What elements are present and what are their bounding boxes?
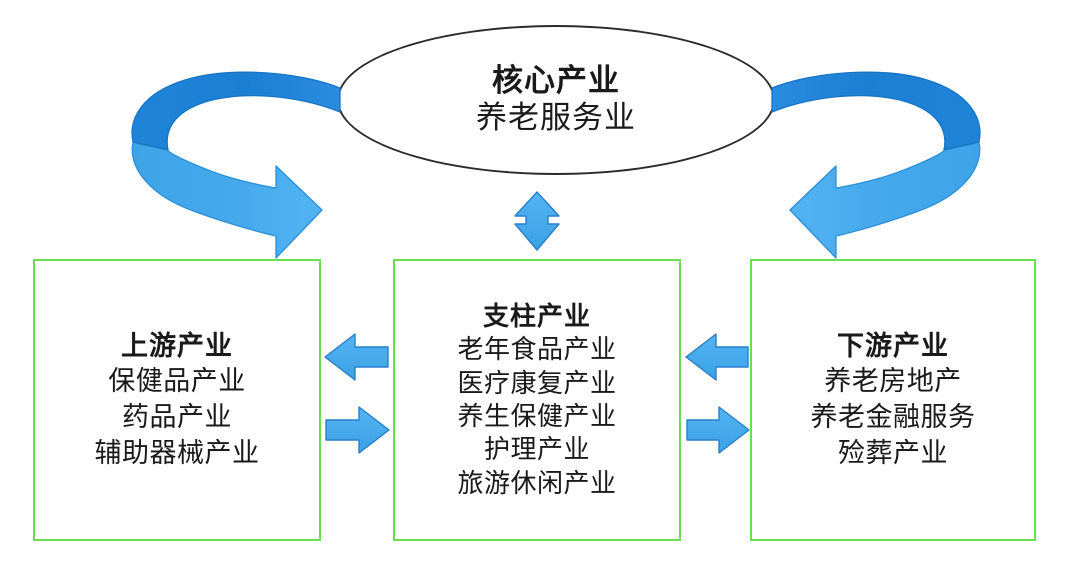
pillar-item-0: 老年食品产业 <box>457 333 616 366</box>
pillar-industry-box: 支柱产业 老年食品产业 医疗康复产业 养生保健产业 护理产业 旅游休闲产业 <box>393 259 681 541</box>
pillar-item-1: 医疗康复产业 <box>457 367 616 400</box>
core-industry-ellipse: 核心产业 养老服务业 <box>337 25 775 175</box>
core-industry-title: 核心产业 <box>492 64 620 99</box>
downstream-item-0: 养老房地产 <box>824 364 962 400</box>
pillar-item-4: 旅游休闲产业 <box>457 467 616 500</box>
pillar-item-3: 护理产业 <box>484 433 590 466</box>
curved-arrow-left-icon <box>132 72 340 258</box>
downstream-industry-box: 下游产业 养老房地产 养老金融服务 殓葬产业 <box>750 259 1036 541</box>
downstream-item-2: 殓葬产业 <box>838 436 948 472</box>
core-industry-subtitle: 养老服务业 <box>476 101 636 136</box>
arrow-right-to-center-icon <box>686 334 748 380</box>
upstream-title: 上游产业 <box>121 329 233 365</box>
pillar-title: 支柱产业 <box>483 300 591 333</box>
arrow-center-to-left-icon <box>325 334 388 380</box>
downstream-item-1: 养老金融服务 <box>811 400 976 436</box>
upstream-item-1: 药品产业 <box>122 400 232 436</box>
vertical-double-arrow-icon <box>515 192 559 250</box>
curved-arrow-right-icon <box>772 72 980 258</box>
upstream-item-2: 辅助器械产业 <box>95 436 260 472</box>
upstream-industry-box: 上游产业 保健品产业 药品产业 辅助器械产业 <box>33 259 321 541</box>
arrow-center-to-right-icon <box>687 407 749 453</box>
diagram-canvas: 核心产业 养老服务业 上游产业 保健品产业 药品产业 辅助器械产业 支柱产业 老… <box>0 0 1080 566</box>
arrow-left-to-center-icon <box>326 407 389 453</box>
downstream-title: 下游产业 <box>837 329 949 365</box>
upstream-item-0: 保健品产业 <box>108 364 246 400</box>
pillar-item-2: 养生保健产业 <box>457 400 616 433</box>
